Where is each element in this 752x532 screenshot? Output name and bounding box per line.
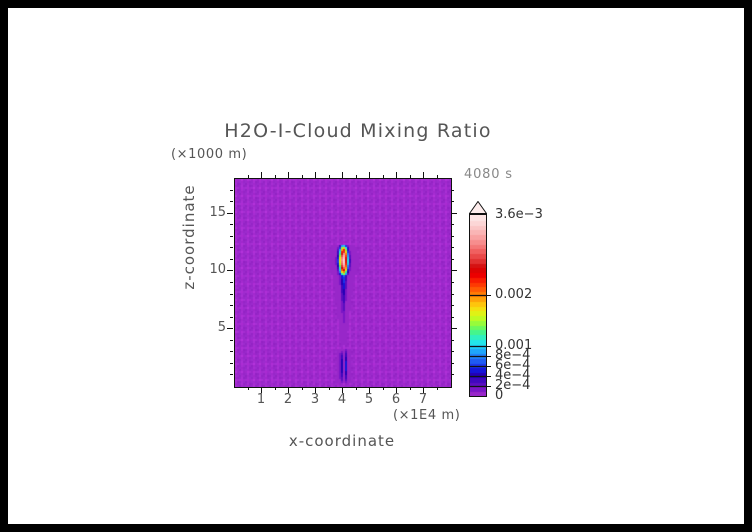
x-tick-bottom — [329, 387, 330, 390]
x-tick-top — [315, 172, 316, 178]
x-tick-top — [437, 175, 438, 178]
z-tick-left — [227, 213, 233, 214]
x-tick-top — [410, 175, 411, 178]
x-tick-top — [356, 175, 357, 178]
heatmap-plot-area — [234, 178, 452, 388]
z-tick-right — [451, 270, 457, 271]
z-tick-left — [230, 374, 233, 375]
z-tick-left — [230, 282, 233, 283]
chart-title: H2O-I-Cloud Mixing Ratio — [208, 120, 508, 142]
colorbar-extend-arrow-icon — [469, 201, 487, 214]
z-tick-right — [451, 328, 457, 329]
colorbar-tick — [469, 376, 491, 377]
colorbar-tick-label: 3.6e−3 — [495, 207, 543, 222]
z-tick-left — [230, 305, 233, 306]
colorbar-tick-label: 0 — [495, 388, 503, 403]
z-tick-right — [451, 282, 454, 283]
x-axis-title: x-coordinate — [234, 432, 450, 450]
z-tick-left — [230, 363, 233, 364]
colorbar — [469, 201, 487, 397]
z-tick-right — [451, 236, 454, 237]
x-axis-unit-label: (×1E4 m) — [393, 408, 460, 423]
colorbar-gradient — [469, 214, 487, 397]
z-tick-right — [451, 201, 454, 202]
colorbar-tick — [469, 356, 491, 357]
x-tick-bottom — [410, 387, 411, 390]
z-tick-right — [451, 294, 454, 295]
x-tick-label: 7 — [413, 392, 433, 407]
x-tick-label: 2 — [278, 392, 298, 407]
x-tick-top — [261, 172, 262, 178]
z-tick-right — [451, 190, 454, 191]
figure-canvas: H2O-I-Cloud Mixing Ratio (×1000 m) 4080 … — [8, 8, 744, 524]
x-tick-top — [396, 172, 397, 178]
z-tick-left — [230, 351, 233, 352]
y-axis-unit-label: (×1000 m) — [171, 147, 247, 162]
z-tick-left — [227, 328, 233, 329]
x-tick-bottom — [275, 387, 276, 390]
z-tick-left — [230, 340, 233, 341]
x-tick-top — [369, 172, 370, 178]
x-tick-label: 3 — [305, 392, 325, 407]
x-tick-top — [329, 175, 330, 178]
z-tick-label: 10 — [204, 262, 226, 277]
z-tick-right — [451, 374, 454, 375]
z-tick-left — [230, 294, 233, 295]
z-tick-right — [451, 247, 454, 248]
z-tick-left — [230, 247, 233, 248]
colorbar-tick-label: 0.002 — [495, 287, 532, 302]
x-tick-top — [423, 172, 424, 178]
z-tick-right — [451, 340, 454, 341]
z-tick-label: 15 — [204, 205, 226, 220]
z-tick-right — [451, 317, 454, 318]
z-tick-left — [230, 224, 233, 225]
z-tick-left — [230, 190, 233, 191]
colorbar-tick — [469, 346, 491, 347]
x-tick-bottom — [356, 387, 357, 390]
colorbar-tick — [469, 386, 491, 387]
z-tick-label: 5 — [204, 320, 226, 335]
z-tick-right — [451, 363, 454, 364]
x-tick-bottom — [248, 387, 249, 390]
x-tick-label: 1 — [251, 392, 271, 407]
x-tick-bottom — [383, 387, 384, 390]
z-tick-left — [230, 259, 233, 260]
z-tick-left — [227, 270, 233, 271]
figure-frame: H2O-I-Cloud Mixing Ratio (×1000 m) 4080 … — [0, 0, 752, 532]
x-tick-top — [342, 172, 343, 178]
x-tick-label: 5 — [359, 392, 379, 407]
z-tick-right — [451, 351, 454, 352]
z-tick-right — [451, 213, 457, 214]
x-tick-top — [288, 172, 289, 178]
colorbar-tick — [469, 295, 491, 296]
z-tick-left — [230, 317, 233, 318]
z-tick-right — [451, 224, 454, 225]
x-tick-label: 4 — [332, 392, 352, 407]
z-tick-right — [451, 305, 454, 306]
colorbar-tick — [469, 366, 491, 367]
timestamp-label: 4080 s — [464, 167, 513, 182]
x-tick-bottom — [437, 387, 438, 390]
y-axis-title: z-coordinate — [180, 177, 198, 297]
z-tick-right — [451, 259, 454, 260]
z-tick-left — [230, 201, 233, 202]
x-tick-label: 6 — [386, 392, 406, 407]
x-tick-top — [302, 175, 303, 178]
x-tick-bottom — [302, 387, 303, 390]
x-tick-top — [275, 175, 276, 178]
z-tick-left — [230, 236, 233, 237]
x-tick-top — [248, 175, 249, 178]
x-tick-top — [383, 175, 384, 178]
